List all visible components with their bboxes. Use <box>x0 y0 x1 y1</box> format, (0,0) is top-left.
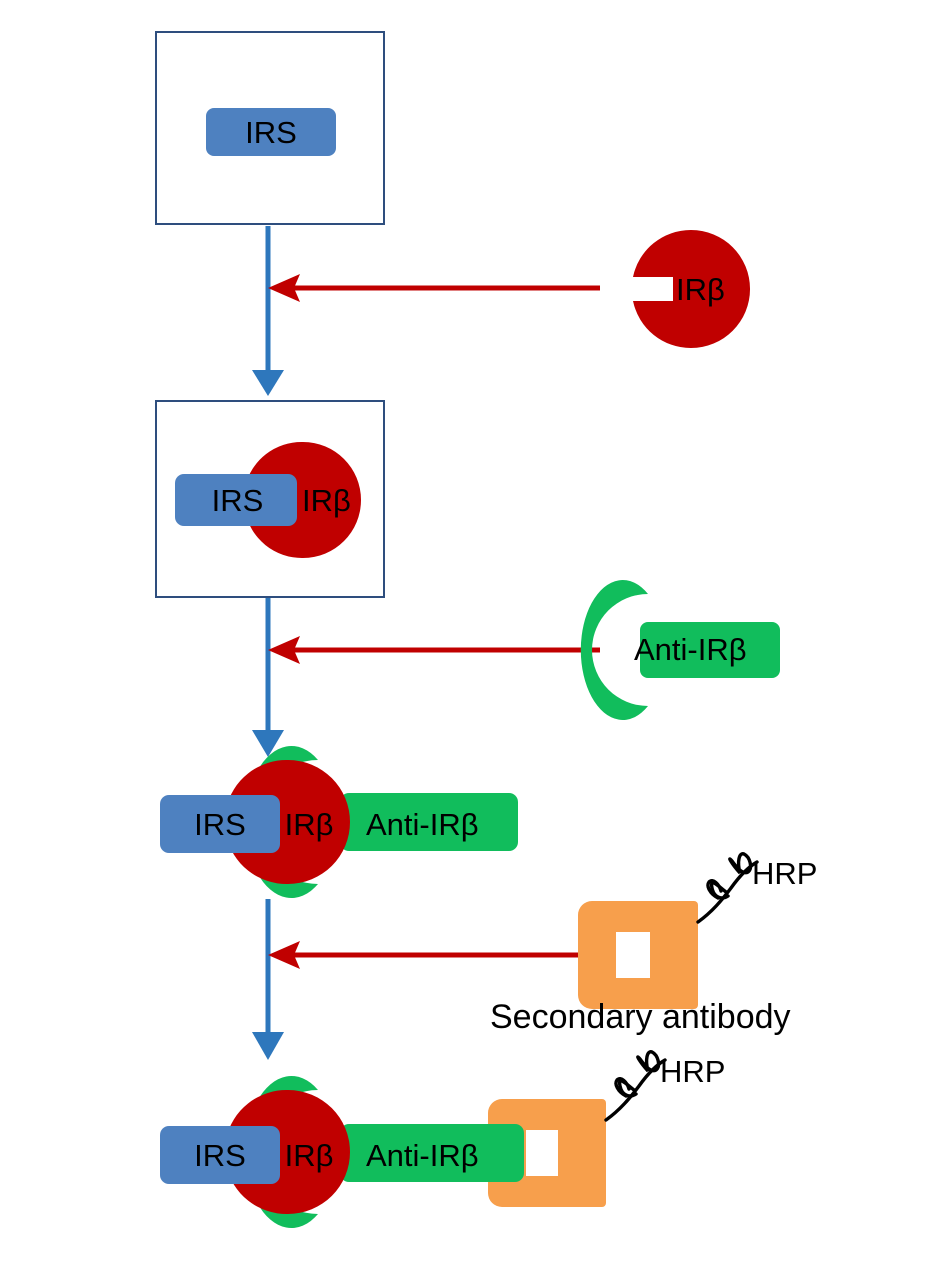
flow-arrow-1 <box>252 226 284 396</box>
reagent-arrow-2 <box>268 636 600 664</box>
irs-label-step1: IRS <box>206 108 336 156</box>
irs-label-step2: IRS <box>180 476 295 524</box>
hrp-label-step4: HRP <box>660 1056 725 1087</box>
anti-irb-label-step4: Anti-IRβ <box>366 1126 512 1184</box>
flow-arrow-3 <box>252 899 284 1060</box>
anti-irb-label-standalone: Anti-IRβ <box>634 634 747 665</box>
hrp-icon-step3 <box>698 854 757 922</box>
secondary-antibody-label: Secondary antibody <box>490 1000 791 1034</box>
irs-label-step4: IRS <box>160 1126 280 1184</box>
hrp-label-step3: HRP <box>752 858 817 889</box>
irs-label-step3: IRS <box>160 795 280 853</box>
irb-label-standalone: IRβ <box>676 274 725 305</box>
hrp-icon-step4 <box>606 1052 665 1120</box>
elisa-sandwich-assay-diagram: IRS IRβ IRS IRβ Anti-IRβ IRS IRβ Anti-IR… <box>0 0 934 1272</box>
flow-arrow-2 <box>252 598 284 757</box>
reagent-arrow-3 <box>268 941 600 969</box>
irb-label-step2: IRβ <box>302 476 372 524</box>
diagram-shapes <box>0 0 934 1272</box>
secondary-antibody-molecule-standalone <box>578 901 698 1009</box>
reagent-arrow-1 <box>268 274 600 302</box>
irb-label-step4: IRβ <box>278 1126 340 1184</box>
irb-label-step3: IRβ <box>278 795 340 853</box>
anti-irb-label-step3: Anti-IRβ <box>366 795 512 853</box>
